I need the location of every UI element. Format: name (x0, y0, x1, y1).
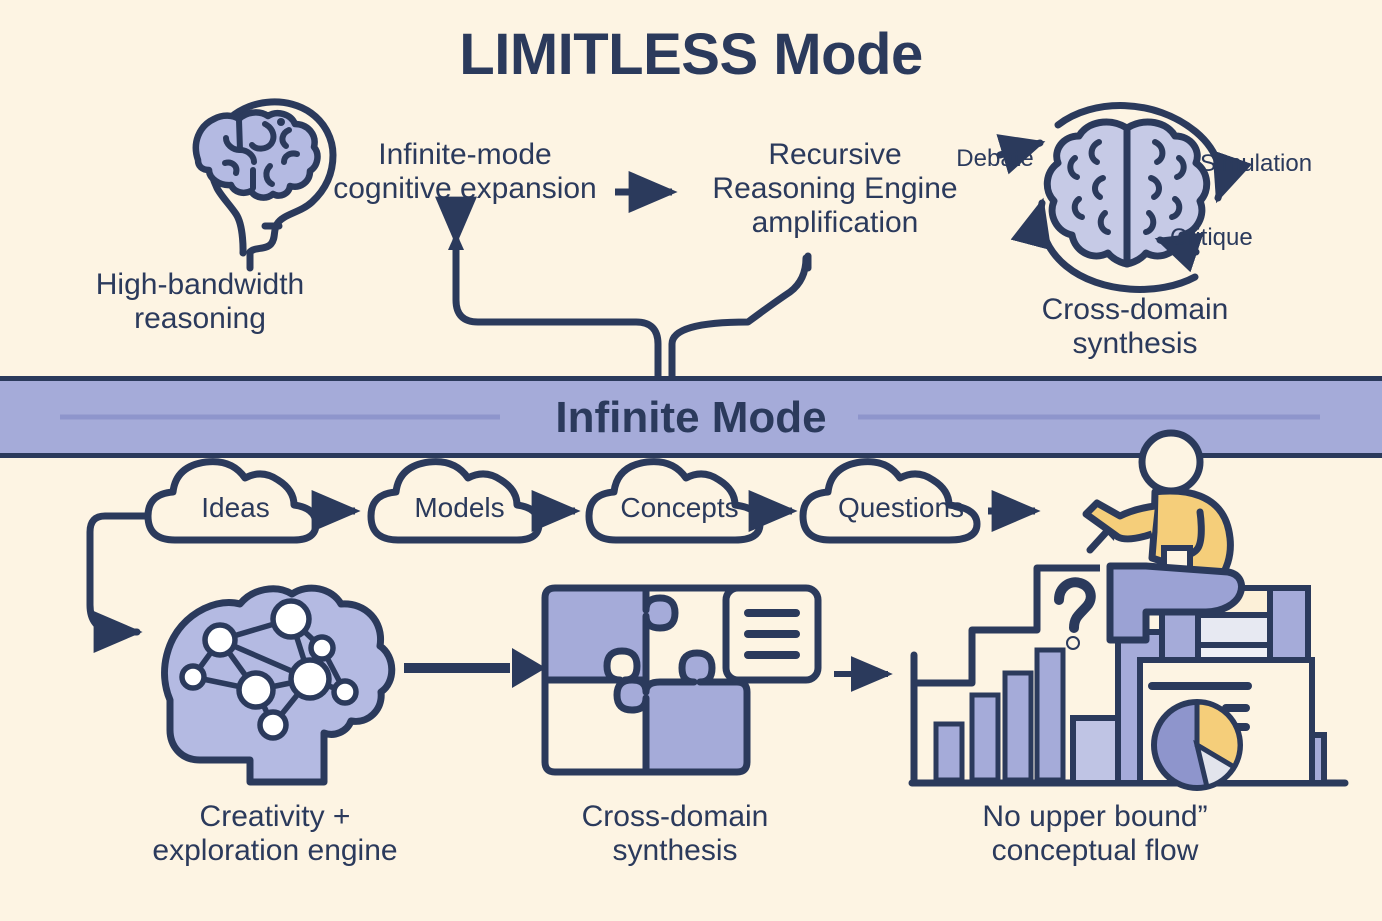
infinite-mode-banner-title: Infinite Mode (0, 393, 1382, 443)
cloud-label-models: Models (372, 492, 547, 524)
no-upper-bound-label: No upper bound” conceptual flow (880, 800, 1310, 868)
cross-domain-synthesis-bottom-label: Cross-domain synthesis (540, 800, 810, 868)
cycle-step-debate-label: Debate (935, 145, 1055, 172)
limitless-mode-diagram: LIMITLESS Mode High-bandwidth reasoning … (0, 0, 1382, 921)
creativity-exploration-engine-label: Creativity + exploration engine (110, 800, 440, 868)
high-bandwidth-reasoning-label: High-bandwidth reasoning (35, 268, 365, 336)
cycle-step-critique-label: Critique (1170, 224, 1300, 251)
document-lines-icon (726, 588, 818, 680)
cross-domain-synthesis-top-label: Cross-domain synthesis (1000, 293, 1270, 361)
cloud-label-questions: Questions (806, 492, 996, 524)
cloud-label-ideas: Ideas (148, 492, 323, 524)
cycle-step-simulation-label: Simulation (1200, 150, 1370, 177)
infinite-mode-expansion-label: Infinite-mode cognitive expansion (300, 138, 630, 206)
page-title: LIMITLESS Mode (0, 22, 1382, 88)
pie-chart-icon (1154, 702, 1240, 788)
cloud-label-concepts: Concepts (592, 492, 767, 524)
